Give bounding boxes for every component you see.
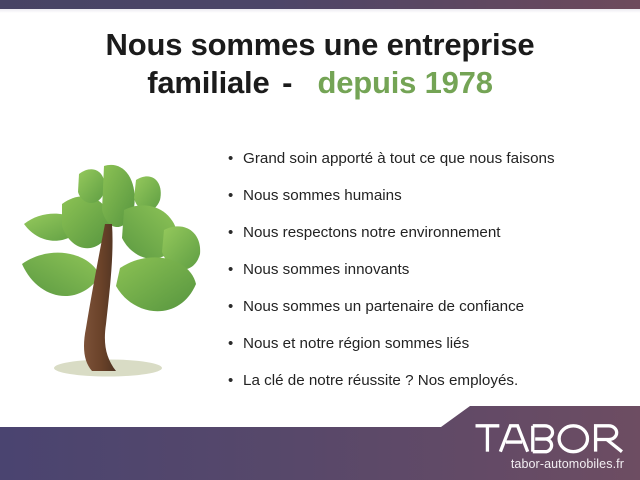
list-item: • Nous sommes un partenaire de confiance [228, 296, 628, 333]
headline-dash: - [282, 65, 292, 100]
top-accent-strip [0, 0, 640, 9]
bullet-marker-icon: • [228, 296, 243, 318]
top-strip-fade [0, 9, 640, 13]
list-item: • Nous sommes innovants [228, 259, 628, 296]
benefits-list: • Grand soin apporté à tout ce que nous … [228, 148, 628, 407]
bullet-marker-icon: • [228, 370, 243, 392]
brand-tagline: tabor-automobiles.fr [466, 457, 626, 472]
list-item: • Grand soin apporté à tout ce que nous … [228, 148, 628, 185]
list-item: • Nous sommes humains [228, 185, 628, 222]
list-item: • La clé de notre réussite ? Nos employé… [228, 370, 628, 407]
brand-logo[interactable]: tabor-automobiles.fr [466, 422, 626, 472]
page-title: Nous sommes une entreprise familiale - d… [0, 26, 640, 102]
bullet-marker-icon: • [228, 148, 243, 170]
list-item-label: Nous sommes humains [243, 185, 402, 207]
headline-line-1: Nous sommes une entreprise [106, 27, 535, 62]
list-item-label: Grand soin apporté à tout ce que nous fa… [243, 148, 555, 170]
headline-accent-since-year: depuis 1978 [317, 65, 492, 100]
list-item-label: Nous sommes un partenaire de confiance [243, 296, 524, 318]
list-item-label: La clé de notre réussite ? Nos employés. [243, 370, 518, 392]
list-item-label: Nous sommes innovants [243, 259, 409, 281]
bullet-marker-icon: • [228, 222, 243, 244]
headline-line-2: familiale - depuis 1978 [0, 64, 640, 102]
tabor-wordmark-icon [474, 422, 626, 455]
bullet-marker-icon: • [228, 185, 243, 207]
list-item-label: Nous et notre région sommes liés [243, 333, 469, 355]
bullet-marker-icon: • [228, 333, 243, 355]
list-item: • Nous respectons notre environnement [228, 222, 628, 259]
bullet-marker-icon: • [228, 259, 243, 281]
list-item: • Nous et notre région sommes liés [228, 333, 628, 370]
tree-illustration [12, 152, 212, 384]
slide-root: Nous sommes une entreprise familiale - d… [0, 0, 640, 480]
list-item-label: Nous respectons notre environnement [243, 222, 501, 244]
headline-line-2-prefix: familiale [147, 65, 269, 100]
